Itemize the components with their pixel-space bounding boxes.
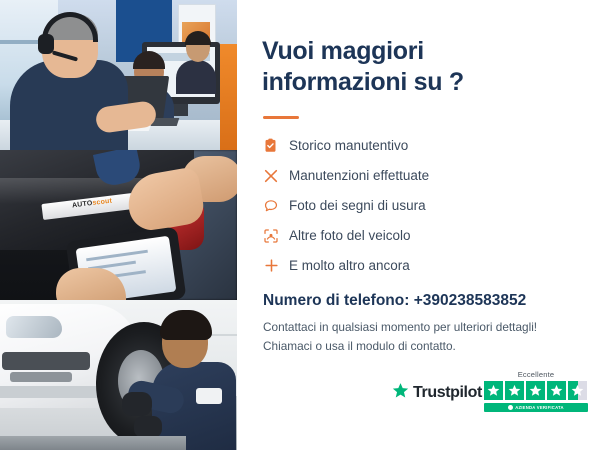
vehicle-lift-platform bbox=[0, 436, 186, 450]
orange-wall-strip bbox=[220, 44, 237, 150]
vehicle-info-promo-page: AUTOscout bbox=[0, 0, 600, 450]
feature-label: Storico manutentivo bbox=[289, 139, 408, 153]
mechanic-wheel-photo bbox=[0, 300, 237, 450]
rating-star-filled bbox=[547, 381, 566, 400]
trustpilot-star-icon bbox=[392, 382, 409, 404]
rating-star-half bbox=[568, 381, 587, 400]
rating-star-filled bbox=[505, 381, 524, 400]
photo-column: AUTOscout bbox=[0, 0, 237, 450]
monitor-stand bbox=[172, 104, 188, 116]
contact-paragraph: Contattaci in qualsiasi momento per ulte… bbox=[263, 318, 563, 356]
phone-number[interactable]: +390238583852 bbox=[414, 292, 527, 309]
feature-item-foto-segni-usura: Foto dei segni di usura bbox=[263, 192, 583, 219]
trustpilot-rating-label: Eccellente bbox=[484, 370, 588, 379]
call-center-agents-photo bbox=[0, 0, 237, 150]
feature-list: Storico manutentivo Manutenzioni effettu… bbox=[263, 132, 583, 282]
feature-label: Foto dei segni di usura bbox=[289, 199, 426, 213]
rating-star-filled bbox=[526, 381, 545, 400]
headset-earcup bbox=[38, 34, 54, 54]
title-underline-divider bbox=[263, 116, 299, 119]
photo-scan-icon bbox=[263, 228, 289, 244]
feature-item-molto-altro: E molto altro ancora bbox=[263, 252, 583, 279]
car-headlight bbox=[6, 316, 62, 338]
rating-star-filled bbox=[484, 381, 503, 400]
plus-icon bbox=[263, 257, 289, 274]
feature-item-storico-manutentivo: Storico manutentivo bbox=[263, 132, 583, 159]
trustpilot-logo: Trustpilot bbox=[392, 382, 482, 404]
trustpilot-widget[interactable]: Trustpilot Eccellente bbox=[392, 370, 592, 416]
trustpilot-star-rating bbox=[484, 381, 588, 400]
vehicle-inspection-photo: AUTOscout bbox=[0, 150, 237, 300]
uniform-logo-patch bbox=[196, 388, 222, 404]
feature-label: Manutenzioni effettuate bbox=[289, 169, 429, 183]
verified-badge-text: AZIENDA VERIFICATA bbox=[515, 405, 564, 410]
coworker-far-body bbox=[176, 60, 216, 94]
mechanic-glove-upper bbox=[122, 392, 152, 416]
contact-line-1: Contattaci in qualsiasi momento per ulte… bbox=[263, 318, 563, 337]
speech-bubble-icon bbox=[263, 198, 289, 214]
phone-label: Numero di telefono: bbox=[263, 292, 409, 309]
contact-line-2: Chiamaci o usa il modulo di contatto. bbox=[263, 337, 563, 356]
phone-line: Numero di telefono: +390238583852 bbox=[263, 292, 526, 310]
trustpilot-rating: Eccellente bbox=[484, 370, 588, 412]
feature-label: Altre foto del veicolo bbox=[289, 229, 411, 243]
feature-label: E molto altro ancora bbox=[289, 259, 410, 273]
feature-item-manutenzioni-effettuate: Manutenzioni effettuate bbox=[263, 162, 583, 189]
tools-icon bbox=[263, 168, 289, 184]
page-title: Vuoi maggiori informazioni su ? bbox=[262, 36, 477, 97]
mechanic-glove-lower bbox=[134, 416, 162, 438]
clipboard-check-icon bbox=[263, 138, 289, 153]
car-grille bbox=[2, 352, 90, 370]
feature-item-altre-foto-veicolo: Altre foto del veicolo bbox=[263, 222, 583, 249]
car-lower-grille bbox=[10, 372, 72, 382]
verified-company-badge: AZIENDA VERIFICATA bbox=[484, 403, 588, 412]
verified-check-icon bbox=[508, 405, 513, 410]
trustpilot-wordmark: Trustpilot bbox=[413, 384, 482, 402]
info-panel: Vuoi maggiori informazioni su ? Saremo f… bbox=[237, 0, 600, 450]
